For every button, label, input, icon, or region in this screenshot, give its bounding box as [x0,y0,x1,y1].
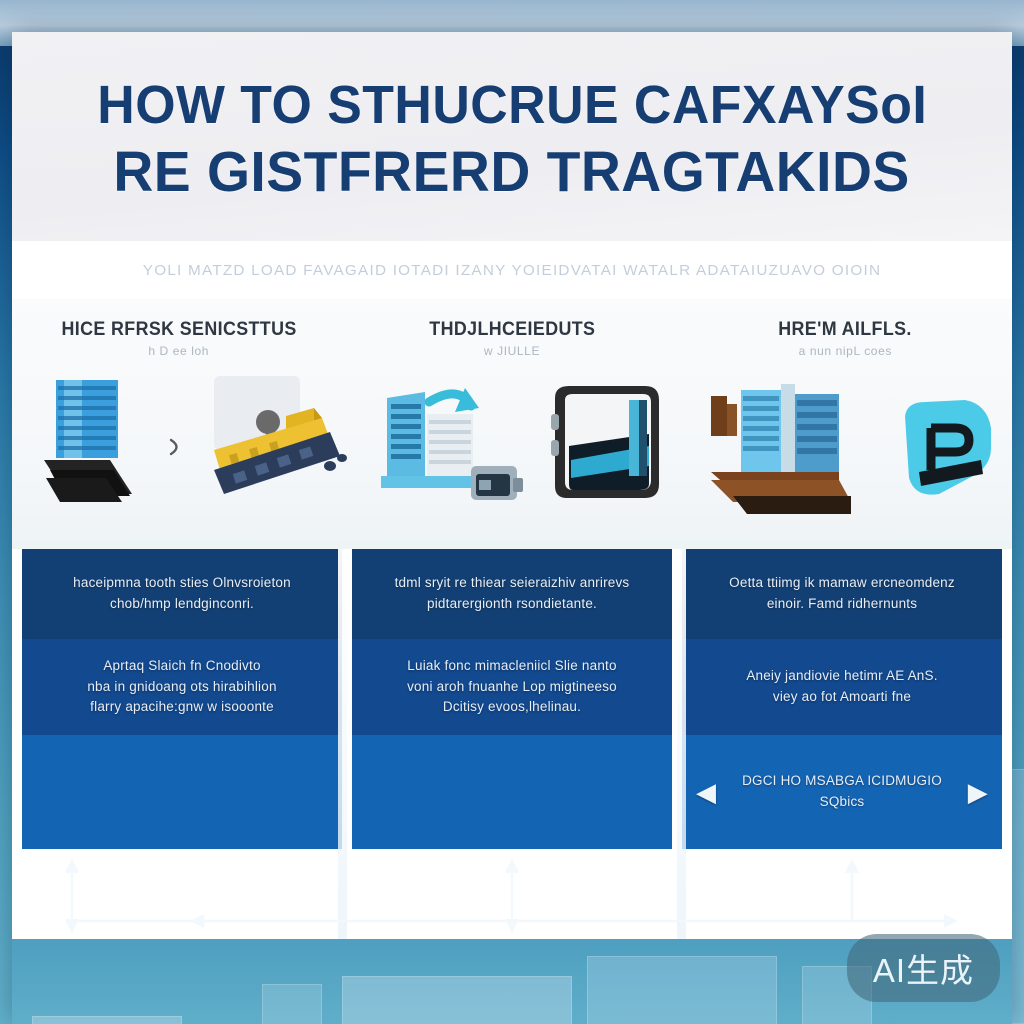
infographic-card: HOW TO STHUCRUE CAFXAYSoI RE GISTFRERD T… [12,32,1012,1024]
column-1-header: HICE RFRSK SENICSTTUS h D ee loh [12,299,345,549]
column-1-panel-1[interactable]: haceipmna tooth sties Olnvsroieton chob/… [22,549,342,639]
column-3-icon-row [679,374,1012,524]
panel-text-line: Aprtaq Slaich fn Cnodivto [103,656,260,677]
column-3-panels: Oetta ttiimg ik mamaw ercneomdenz einoir… [682,549,1002,849]
page-title-line-1: HOW TO STHUCRUE CAFXAYSoI [97,77,927,133]
panel-text-line: einoir. Famd ridhernunts [767,594,917,615]
page-title-line-2: RE GISTFRERD TRAGTAKIDS [114,143,910,202]
panel-text-line: Oetta ttiimg ik mamaw ercneomdenz [729,573,955,594]
title-block: HOW TO STHUCRUE CAFXAYSoI RE GISTFRERD T… [12,32,1012,241]
skyline-building [32,1016,182,1024]
arrow-head-up [505,859,519,873]
gold-factory-icon [190,374,350,524]
column-2-header: THDJLHCEIEDUTS w JIULLE [345,299,678,549]
arrow-head-up [65,859,79,873]
arrow-left-icon[interactable]: ◀ [696,779,716,805]
subtitle-text: YOLI MATZD LOAD FAVAGAID IOTADI IZANY YO… [143,262,881,279]
panel-text-line: tdml sryit re thiear seieraizhiv anrirev… [395,573,630,594]
columns-header-region: HICE RFRSK SENICSTTUS h D ee loh [12,299,1012,549]
column-3-header: HRE'M AILFLS. a nun nipL coes [679,299,1012,549]
arrow-head-right [944,914,958,928]
arrow-head-left [190,914,204,928]
panel-text-line: SQbics [716,792,968,813]
arrow-head-up [845,859,859,873]
panel-text-line: viey ao fot Amoarti fne [773,687,911,708]
panel-text-line: Aneiy jandiovie hetimr AE AnS. [746,666,937,687]
column-3-panel-3[interactable]: ◀ DGCI HO MSABGA ICIDMUGIO SQbics ▶ [682,735,1002,849]
panel-text-line: pidtarergionth rsondietante. [427,594,597,615]
panel-text-line: voni aroh fnuanhe Lop migtineeso [407,677,617,698]
skyline-building [262,984,322,1024]
column-2-heading: THDJLHCEIEDUTS [429,319,595,341]
panel-text-line: flarry apacihe:gnw w isooonte [90,697,274,718]
columns-panel-region: haceipmna tooth sties Olnvsroieton chob/… [12,549,1012,849]
column-3-heading: HRE'M AILFLS. [779,319,912,341]
arrow-right-icon[interactable]: ▶ [968,779,988,805]
panel-text-line: chob/hmp lendginconri. [110,594,254,615]
column-1-panel-2[interactable]: Aprtaq Slaich fn Cnodivto nba in gnidoan… [22,639,342,735]
column-2-panel-1[interactable]: tdml sryit re thiear seieraizhiv anrirev… [352,549,672,639]
column-2-panels: tdml sryit re thiear seieraizhiv anrirev… [352,549,672,849]
arrow-head-down [65,919,79,933]
column-1-subheading: h D ee loh [148,344,209,358]
cyan-badge-icon [887,394,1007,504]
column-1-panel-3[interactable] [22,735,342,849]
column-2-panel-2[interactable]: Luiak fonc mimacleniicl Slie nanto voni … [352,639,672,735]
column-3-panel-3-text: DGCI HO MSABGA ICIDMUGIO SQbics [716,771,968,813]
arrow-head-down [505,919,519,933]
column-2-panel-3[interactable] [352,735,672,849]
column-2-icon-row [345,374,678,524]
panel-text-line: DGCI HO MSABGA ICIDMUGIO [716,771,968,792]
panel-text-line: Luiak fonc mimacleniicl Slie nanto [407,656,616,677]
column-1-icon-row [12,374,345,524]
skyline-building [342,976,572,1024]
server-tower-icon [36,378,156,508]
subtitle-strip: YOLI MATZD LOAD FAVAGAID IOTADI IZANY YO… [12,241,1012,299]
column-2-subheading: w JIULLE [484,344,540,358]
dark-panel-icon [533,380,683,515]
column-3-subheading: a nun nipL coes [799,344,892,358]
device-icon [463,460,533,512]
panel-text-line: haceipmna tooth sties Olnvsroieton [73,573,291,594]
panel-text-line: nba in gnidoang ots hirabihlion [87,677,276,698]
column-1-heading: HICE RFRSK SENICSTTUS [61,319,296,341]
column-1-panels: haceipmna tooth sties Olnvsroieton chob/… [22,549,342,849]
column-3-panel-1[interactable]: Oetta ttiimg ik mamaw ercneomdenz einoir… [682,549,1002,639]
ai-generated-watermark: AI生成 [847,934,1000,1002]
column-3-panel-2[interactable]: Aneiy jandiovie hetimr AE AnS. viey ao f… [682,639,1002,735]
panel-text-line: Dcitisy evoos,lhelinau. [443,697,581,718]
brown-building-icon [697,374,877,519]
